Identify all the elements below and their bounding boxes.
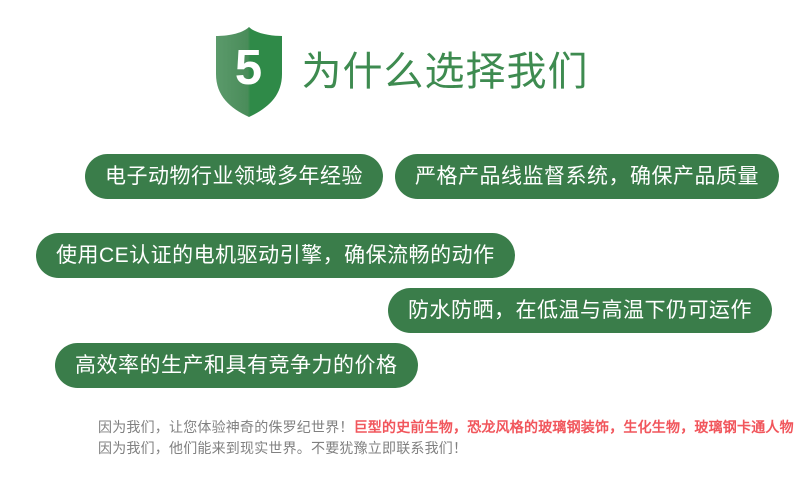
- shield-badge: 5: [212, 26, 286, 118]
- page-title: 为什么选择我们: [302, 50, 589, 94]
- feature-pill-price: 高效率的生产和具有竞争力的价格: [55, 343, 418, 388]
- feature-pill-weatherproof: 防水防晒，在低温与高温下仍可运作: [388, 288, 772, 333]
- feature-pill-label: 严格产品线监督系统，确保产品质量: [415, 166, 759, 187]
- feature-pill-label: 电子动物行业领域多年经验: [105, 166, 363, 187]
- footer-text: 因为我们，让您体验神奇的侏罗纪世界！巨型的史前生物，恐龙风格的玻璃钢装饰，生化生…: [98, 417, 758, 459]
- feature-pill-label: 使用CE认证的电机驱动引擎，确保流畅的动作: [56, 245, 495, 266]
- feature-pill-label: 防水防晒，在低温与高温下仍可运作: [408, 300, 752, 321]
- footer-line-1-prefix: 因为我们，让您体验神奇的侏罗纪世界！: [98, 419, 354, 435]
- feature-pill-experience: 电子动物行业领域多年经验: [85, 154, 383, 199]
- badge-number: 5: [212, 26, 286, 118]
- page-header: 5 为什么选择我们: [0, 22, 800, 122]
- feature-pill-label: 高效率的生产和具有竞争力的价格: [75, 355, 398, 376]
- footer-line-1-accent: 巨型的史前生物，恐龙风格的玻璃钢装饰，生化生物，玻璃钢卡通人物: [354, 419, 794, 435]
- feature-pill-ce-motor: 使用CE认证的电机驱动引擎，确保流畅的动作: [36, 233, 515, 278]
- promo-page: 5 为什么选择我们 电子动物行业领域多年经验 严格产品线监督系统，确保产品质量 …: [0, 0, 800, 485]
- footer-line-2: 因为我们，他们能来到现实世界。不要犹豫立即联系我们！: [98, 438, 758, 459]
- footer-line-1: 因为我们，让您体验神奇的侏罗纪世界！巨型的史前生物，恐龙风格的玻璃钢装饰，生化生…: [98, 417, 758, 438]
- feature-pill-quality: 严格产品线监督系统，确保产品质量: [395, 154, 779, 199]
